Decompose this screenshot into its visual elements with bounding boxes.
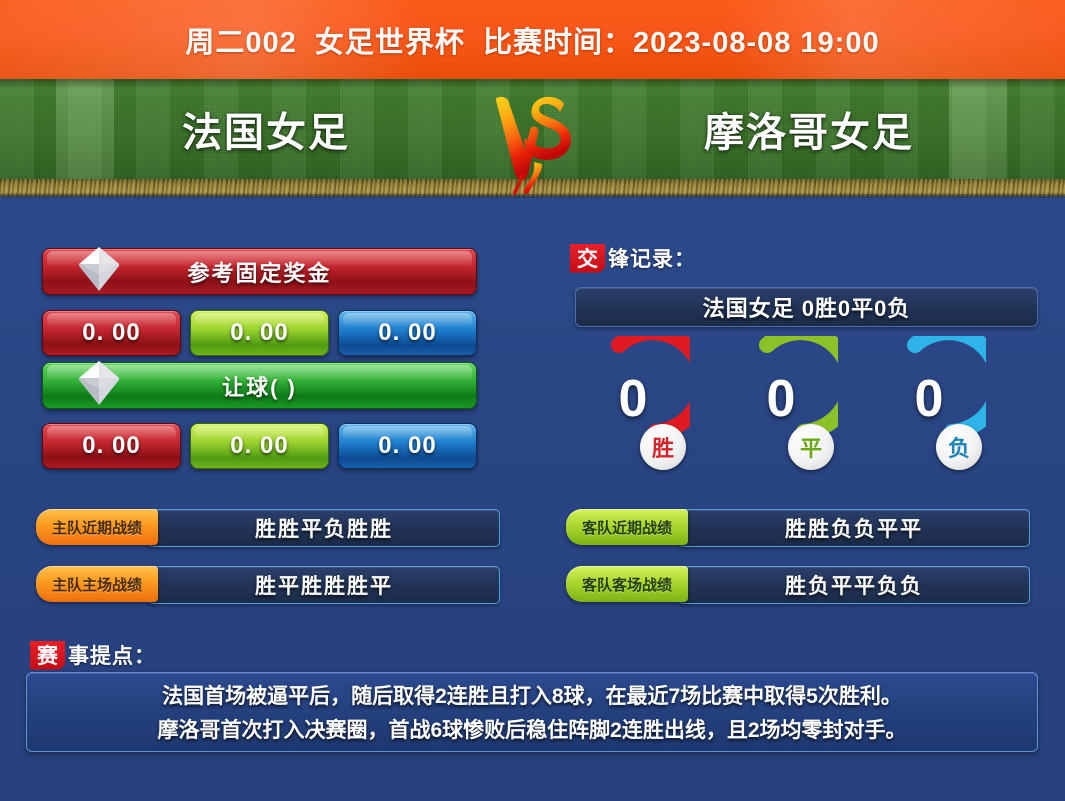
away-venue-form-tab[interactable]: 客队客场战绩 — [566, 566, 688, 602]
home-recent-form-value: 胜胜平负胜胜 — [148, 509, 500, 547]
header-title: 周二002 女足世界杯 比赛时间：2023-08-08 19:00 — [0, 0, 1065, 79]
vs-icon — [478, 78, 588, 196]
tips-line-2: 摩洛哥首次打入决赛圈，首战6球惨败后稳住阵脚2连胜出线，且2场均零封对手。 — [157, 714, 906, 744]
fixed-odd-draw[interactable]: 0. 00 — [190, 310, 329, 356]
h2h-ring-win-badge: 胜 — [640, 424, 686, 470]
vs-logo — [478, 78, 588, 196]
h2h-ring-win: 0 胜 — [560, 336, 690, 486]
h2h-label-rest: 锋记录： — [608, 243, 696, 273]
handicap-odd-draw[interactable]: 0. 00 — [190, 423, 329, 469]
fixed-prize-title-bar: 参考固定奖金 — [42, 248, 477, 295]
tips-box: 法国首场被逼平后，随后取得2连胜且打入8球，在最近7场比赛中取得5次胜利。 摩洛… — [26, 672, 1038, 752]
handicap-bar-highlight — [47, 365, 472, 381]
h2h-ring-lose-badge: 负 — [936, 424, 982, 470]
h2h-summary-text: 法国女足 0胜0平0负 — [703, 291, 911, 323]
h2h-ring-draw: 0 平 — [708, 336, 838, 486]
title-bar-highlight — [47, 251, 472, 267]
fixed-odd-win[interactable]: 0. 00 — [42, 310, 181, 356]
home-venue-form-value: 胜平胜胜胜平 — [148, 566, 500, 604]
home-venue-form-tab[interactable]: 主队主场战绩 — [36, 566, 158, 602]
away-venue-form-value: 胜负平平负负 — [678, 566, 1030, 604]
home-team-name: 法国女足 — [96, 96, 436, 162]
away-recent-form-tab[interactable]: 客队近期战绩 — [566, 509, 688, 545]
handicap-odd-win[interactable]: 0. 00 — [42, 423, 181, 469]
h2h-rings: 0 胜 0 平 0 负 — [560, 336, 1040, 486]
h2h-summary-bar: 法国女足 0胜0平0负 — [575, 287, 1038, 327]
home-recent-form-tab[interactable]: 主队近期战绩 — [36, 509, 158, 545]
tips-section-label: 赛 事提点： — [30, 640, 156, 670]
h2h-section-label: 交 锋记录： — [570, 243, 696, 273]
handicap-title-bar: 让球( ) — [42, 362, 477, 409]
tips-label-chip: 赛 — [30, 641, 65, 670]
h2h-ring-draw-badge: 平 — [788, 424, 834, 470]
tips-line-1: 法国首场被逼平后，随后取得2连胜且打入8球，在最近7场比赛中取得5次胜利。 — [162, 680, 902, 710]
tips-label-rest: 事提点： — [68, 640, 156, 670]
handicap-odd-lose[interactable]: 0. 00 — [338, 423, 477, 469]
away-team-name: 摩洛哥女足 — [639, 96, 979, 162]
away-recent-form-value: 胜胜负负平平 — [678, 509, 1030, 547]
match-preview-page: 周二002 女足世界杯 比赛时间：2023-08-08 19:00 法国女足 摩… — [0, 0, 1065, 801]
h2h-ring-lose: 0 负 — [856, 336, 986, 486]
fixed-odd-lose[interactable]: 0. 00 — [338, 310, 477, 356]
h2h-label-chip: 交 — [570, 244, 605, 273]
